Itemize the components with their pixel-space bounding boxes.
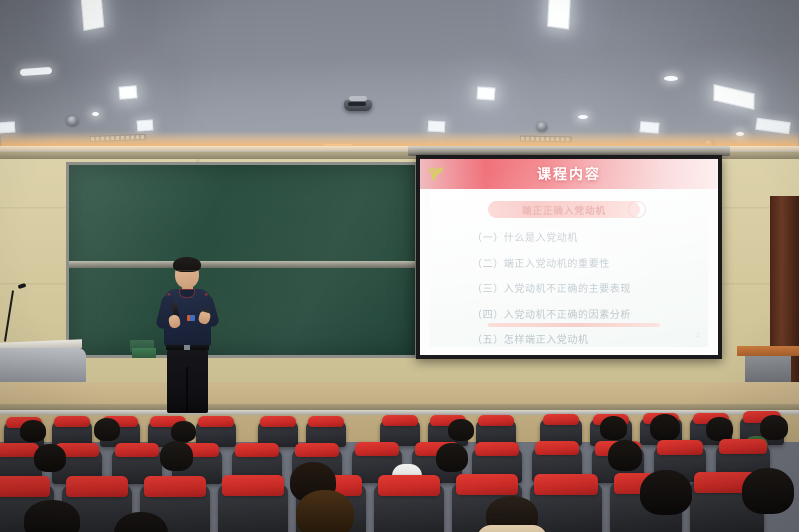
list-item: （五）怎样端正入党动机 [472,331,700,346]
seat-headrest [378,475,440,496]
polo-chest-logo [187,315,195,321]
belt-buckle [184,345,190,350]
seat-headrest [115,443,159,457]
audience-member [608,440,642,471]
seat[interactable] [374,485,444,532]
seat-headrest [308,416,343,427]
slide-pill-tail [628,201,646,218]
audience-member [600,416,627,440]
side-desk [737,346,799,356]
slide-page-number: 2 [696,332,700,339]
chalkboard-glare [69,165,415,355]
seat-headrest [456,474,518,495]
slide-body: 端正正确入党动机 （一）什么是入党动机 （二）端正入党动机的重要性 （三）入党动… [430,193,708,347]
audience-member [296,490,354,532]
led-panel-light [477,86,496,100]
seat[interactable] [218,485,288,532]
security-camera-dome [537,122,547,131]
audience-member [34,444,66,472]
led-panel-light [547,0,571,30]
audience-member [24,500,80,532]
seat-headrest [66,476,128,497]
presenter [155,255,221,415]
seat-headrest [382,415,417,426]
chalkboard [66,162,418,358]
seat-headrest [235,443,279,457]
ceiling [0,0,799,152]
audience-seating [0,408,799,532]
audience-member [640,470,692,515]
projector-lens [348,102,366,106]
ceiling-downlight [578,115,588,119]
glasses-icon [176,270,198,275]
security-camera-dome [67,116,78,125]
seat-headrest [657,440,703,455]
led-panel-light [118,85,137,100]
audience-member [742,468,794,514]
presentation-slide: 课程内容 端正正确入党动机 （一）什么是入党动机 （二）端正入党动机的重要性 （… [420,159,718,355]
audience-member-torso [477,525,548,532]
audience-member [114,512,168,532]
seat-headrest [535,441,579,455]
audience-member-beige-shirt [486,496,538,532]
audience-member [448,419,474,441]
seat-headrest [198,416,233,427]
ceiling-shading [0,0,799,152]
list-item: （二）端正入党动机的重要性 [472,255,700,270]
seat-headrest [0,476,50,497]
seat[interactable] [530,484,602,532]
slide-accent-bar [488,323,660,327]
list-item: （一）什么是入党动机 [472,229,700,244]
seat-headrest [260,416,295,427]
led-panel-light [137,119,154,131]
multimedia-lectern[interactable] [0,348,86,384]
seat-headrest [478,415,513,426]
audience-member [706,417,733,441]
projection-screen: 课程内容 端正正确入党动机 （一）什么是入党动机 （二）端正入党动机的重要性 （… [416,155,722,359]
ceiling-projector [344,100,372,111]
audience-member [436,443,468,472]
audience-member [94,418,120,441]
lecture-hall-scene: 课程内容 端正正确入党动机 （一）什么是入党动机 （二）端正入党动机的重要性 （… [0,0,799,532]
list-item: （四）入党动机不正确的因素分析 [472,306,700,321]
slide-title: 课程内容 [420,159,718,189]
seat-headrest [295,443,339,457]
projector-mount [349,96,367,101]
floor-equipment-box [132,348,156,358]
audience-member [650,414,680,441]
slide-section-pill: 端正正确入党动机 [488,201,640,218]
seat-headrest [355,442,399,456]
audience-member [171,421,196,442]
seat-headrest [54,416,89,427]
seat-headrest [719,439,767,454]
slide-outline-list: （一）什么是入党动机 （二）端正入党动机的重要性 （三）入党动机不正确的主要表现… [472,229,700,355]
ceiling-downlight [92,112,99,116]
seat-headrest [543,414,580,425]
audience-member [160,441,193,471]
list-item: （三）入党动机不正确的主要表现 [472,280,700,295]
seat-headrest [144,476,206,497]
seat-headrest [534,474,597,495]
seat-headrest [475,442,519,456]
audience-member [20,420,46,442]
ceiling-downlight [664,76,678,81]
presenter-leg-seam [186,367,188,413]
seat-headrest [222,475,284,496]
polo-collar [179,289,195,298]
led-panel-light [81,0,105,31]
